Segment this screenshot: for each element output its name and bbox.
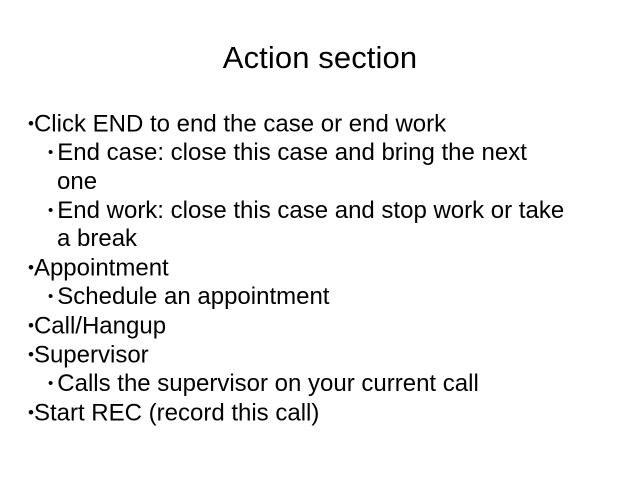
bullet-icon: • — [48, 288, 57, 305]
list-item-label: Appointment — [34, 255, 169, 282]
list-item: •Click END to end the case or end work — [28, 110, 628, 139]
list-item-continuation: a break — [28, 225, 628, 254]
list-item: •Start REC (record this call) — [28, 399, 628, 428]
list-item-label: Supervisor — [34, 342, 149, 369]
list-item-label: Start REC (record this call) — [34, 400, 319, 427]
bullet-icon: • — [48, 375, 57, 392]
bullet-list: •Click END to end the case or end work •… — [28, 110, 628, 428]
slide: Action section •Click END to end the cas… — [0, 0, 640, 480]
bullet-icon: • — [48, 202, 57, 219]
list-item-label: one — [57, 168, 97, 195]
list-item-label: Click END to end the case or end work — [34, 111, 446, 138]
list-item: •Supervisor — [28, 341, 628, 370]
list-item-label: Schedule an appointment — [57, 283, 329, 310]
list-item-label: Calls the supervisor on your current cal… — [57, 370, 479, 397]
page-title: Action section — [0, 40, 640, 76]
list-item-label: Call/Hangup — [34, 312, 166, 339]
list-item: •Appointment — [28, 254, 628, 283]
list-item-label: End case: close this case and bring the … — [57, 139, 527, 166]
list-item: •End work: close this case and stop work… — [28, 197, 628, 226]
list-item-label: End work: close this case and stop work … — [57, 197, 564, 224]
list-item-label: a break — [57, 225, 137, 252]
bullet-icon: • — [48, 144, 57, 161]
list-item: •Schedule an appointment — [28, 283, 628, 312]
list-item: •Calls the supervisor on your current ca… — [28, 370, 628, 399]
list-item-continuation: one — [28, 168, 628, 197]
list-item: •End case: close this case and bring the… — [28, 139, 628, 168]
list-item: •Call/Hangup — [28, 312, 628, 341]
